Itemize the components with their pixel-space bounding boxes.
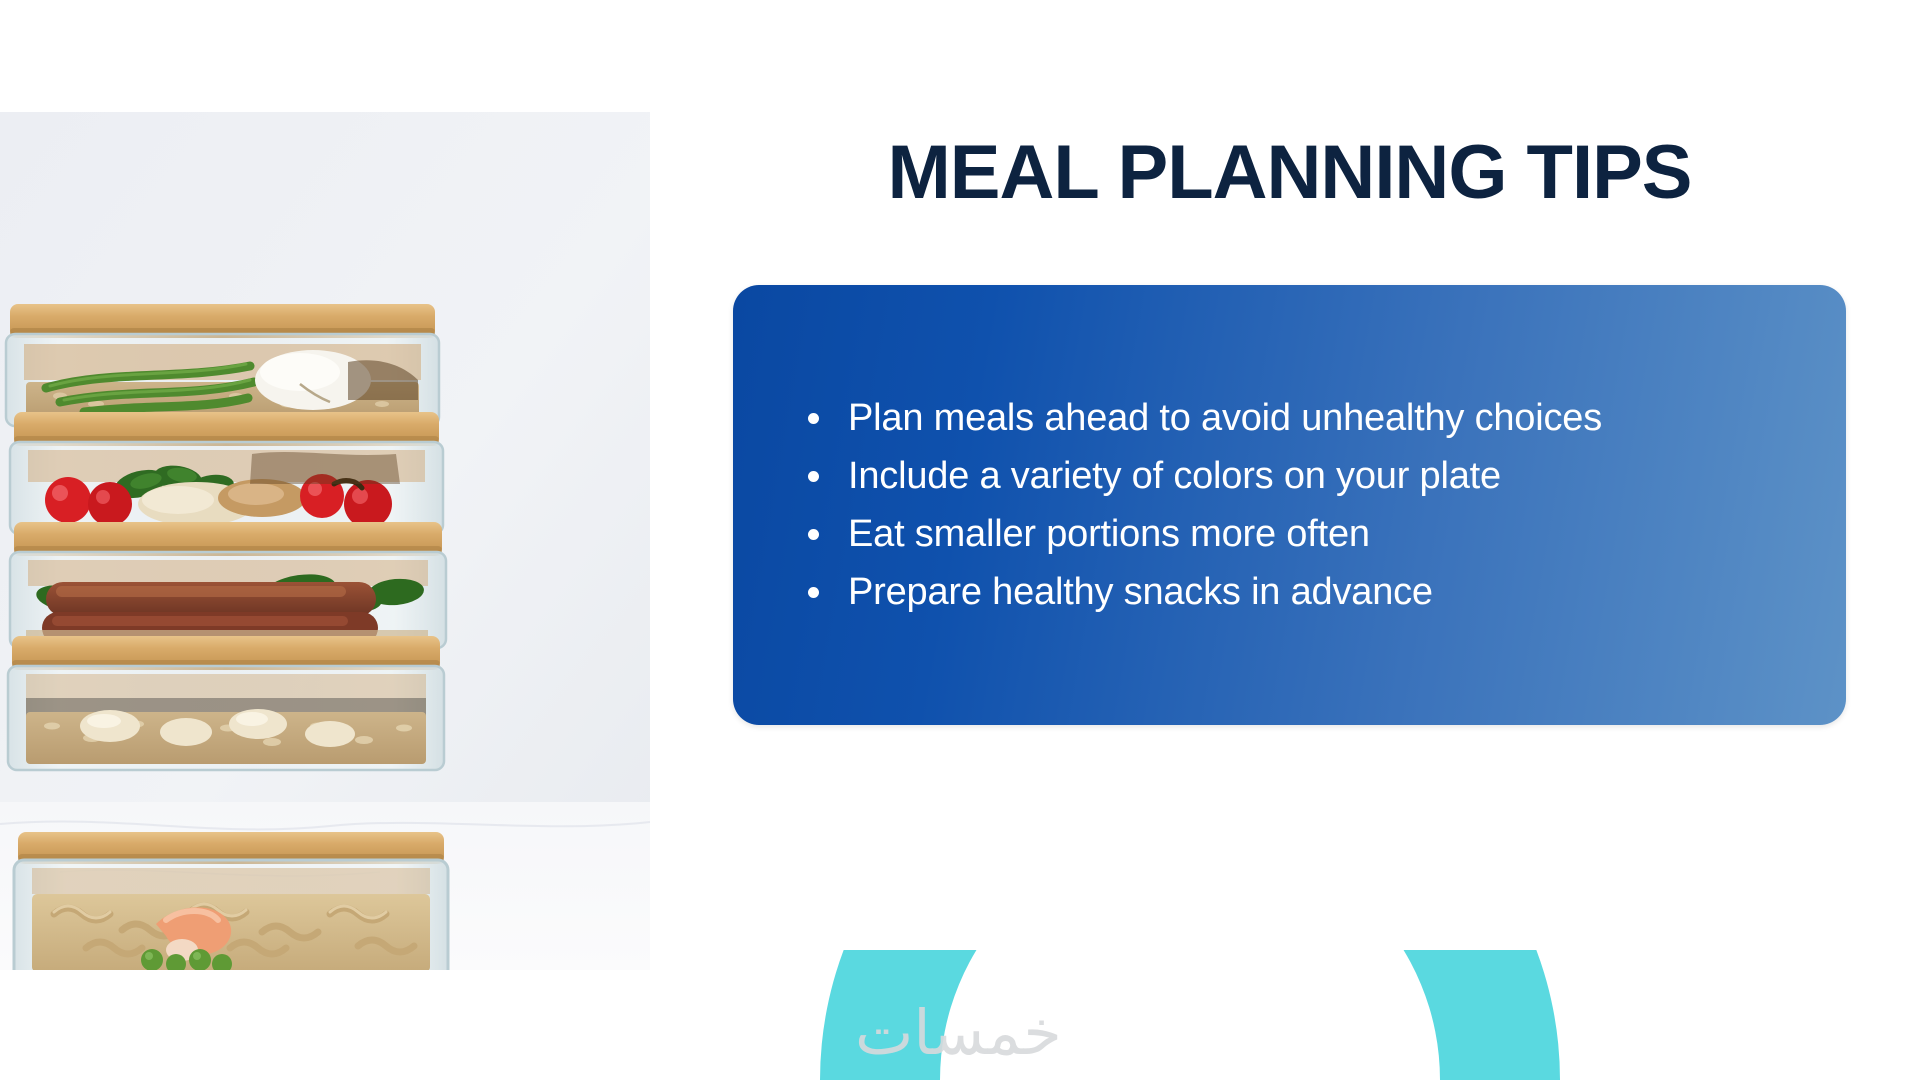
list-item: Plan meals ahead to avoid unhealthy choi… bbox=[808, 389, 1602, 447]
list-item: Prepare healthy snacks in advance bbox=[808, 563, 1602, 621]
tips-card: Plan meals ahead to avoid unhealthy choi… bbox=[733, 285, 1846, 725]
list-item-label: Eat smaller portions more often bbox=[848, 513, 1370, 555]
bullet-icon bbox=[808, 471, 819, 482]
watermark: خمسات bbox=[855, 1002, 1062, 1064]
meal-prep-photo-illustration bbox=[0, 112, 650, 970]
list-item-label: Plan meals ahead to avoid unhealthy choi… bbox=[848, 397, 1602, 439]
bullet-icon bbox=[808, 587, 819, 598]
bullet-icon bbox=[808, 529, 819, 540]
list-item: Include a variety of colors on your plat… bbox=[808, 447, 1602, 505]
list-item: Eat smaller portions more often bbox=[808, 505, 1602, 563]
tips-list: Plan meals ahead to avoid unhealthy choi… bbox=[808, 389, 1602, 621]
meal-prep-photo bbox=[0, 112, 650, 970]
page-title: MEAL PLANNING TIPS bbox=[733, 134, 1846, 212]
bullet-icon bbox=[808, 413, 819, 424]
list-item-label: Prepare healthy snacks in advance bbox=[848, 571, 1433, 613]
list-item-label: Include a variety of colors on your plat… bbox=[848, 455, 1501, 497]
